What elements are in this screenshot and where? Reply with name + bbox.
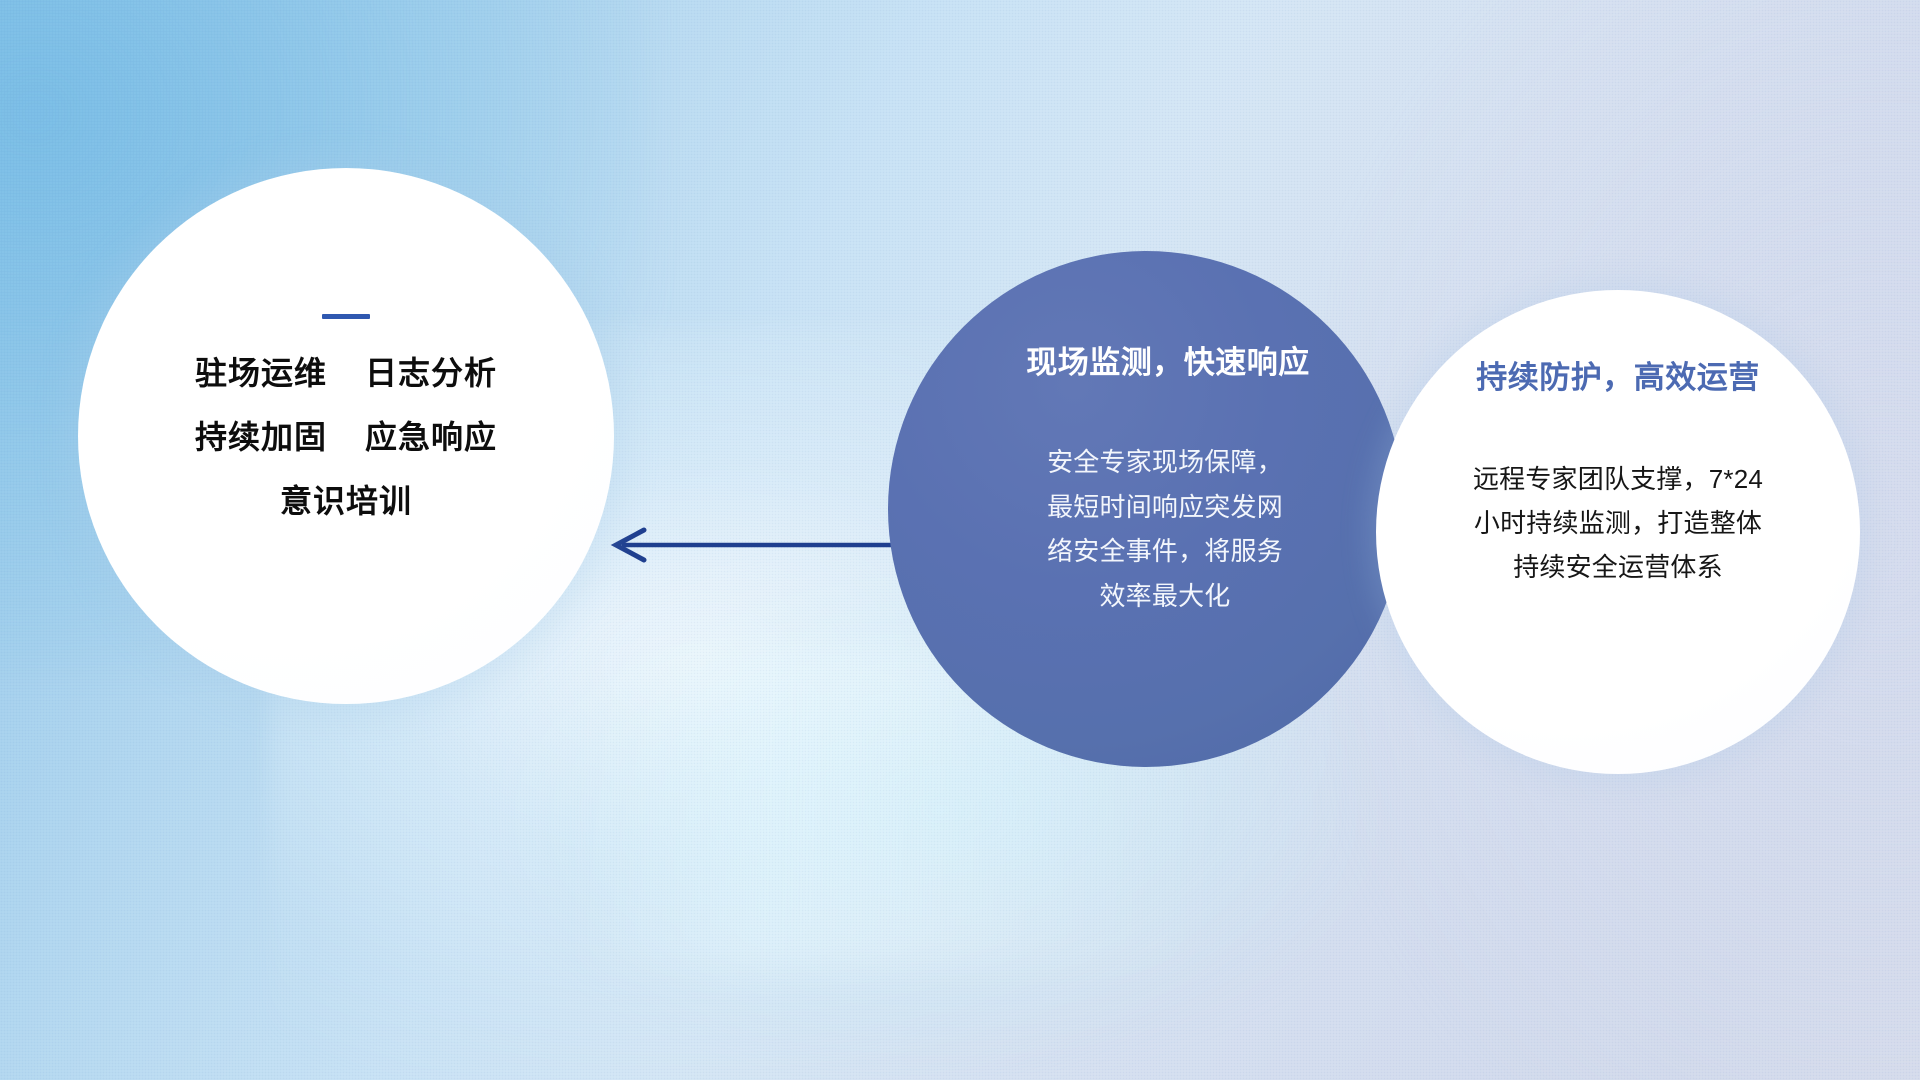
continuous-protection-title: 持续防护，高效运营 — [1476, 352, 1760, 397]
body-line: 远程专家团队支撑，7*24 — [1414, 457, 1822, 501]
slide-canvas: 驻场运维 日志分析 持续加固 应急响应 意识培训 现场监测，快速响应 安全专家现… — [0, 0, 1920, 1080]
keyword-item[interactable]: 日志分析 — [365, 357, 497, 389]
keyword-row-3: 意识培训 — [280, 485, 412, 517]
onsite-monitoring-body: 安全专家现场保障， 最短时间响应突发网 络安全事件，将服务 效率最大化 — [1005, 440, 1325, 619]
capabilities-circle[interactable]: 驻场运维 日志分析 持续加固 应急响应 意识培训 — [78, 168, 614, 704]
body-line: 持续安全运营体系 — [1414, 545, 1822, 589]
body-line: 小时持续监测，打造整体 — [1414, 501, 1822, 545]
body-line: 效率最大化 — [1005, 574, 1325, 619]
body-line: 最短时间响应突发网 — [1005, 485, 1325, 530]
keyword-item[interactable]: 应急响应 — [365, 421, 497, 453]
title-divider-dash — [322, 314, 370, 319]
keyword-row-2: 持续加固 应急响应 — [195, 421, 497, 453]
keyword-item[interactable]: 持续加固 — [195, 421, 327, 453]
keyword-item[interactable]: 驻场运维 — [195, 357, 327, 389]
onsite-monitoring-circle[interactable]: 现场监测，快速响应 安全专家现场保障， 最短时间响应突发网 络安全事件，将服务 … — [888, 251, 1404, 767]
body-line: 安全专家现场保障， — [1005, 440, 1325, 485]
continuous-protection-circle[interactable]: 持续防护，高效运营 远程专家团队支撑，7*24 小时持续监测，打造整体 持续安全… — [1376, 290, 1860, 774]
flow-arrow-icon — [600, 500, 930, 590]
keyword-item[interactable]: 意识培训 — [280, 485, 412, 517]
keyword-row-1: 驻场运维 日志分析 — [195, 357, 497, 389]
continuous-protection-body: 远程专家团队支撑，7*24 小时持续监测，打造整体 持续安全运营体系 — [1414, 457, 1822, 590]
body-line: 络安全事件，将服务 — [1005, 529, 1325, 574]
onsite-monitoring-title: 现场监测，快速响应 — [1026, 337, 1310, 382]
